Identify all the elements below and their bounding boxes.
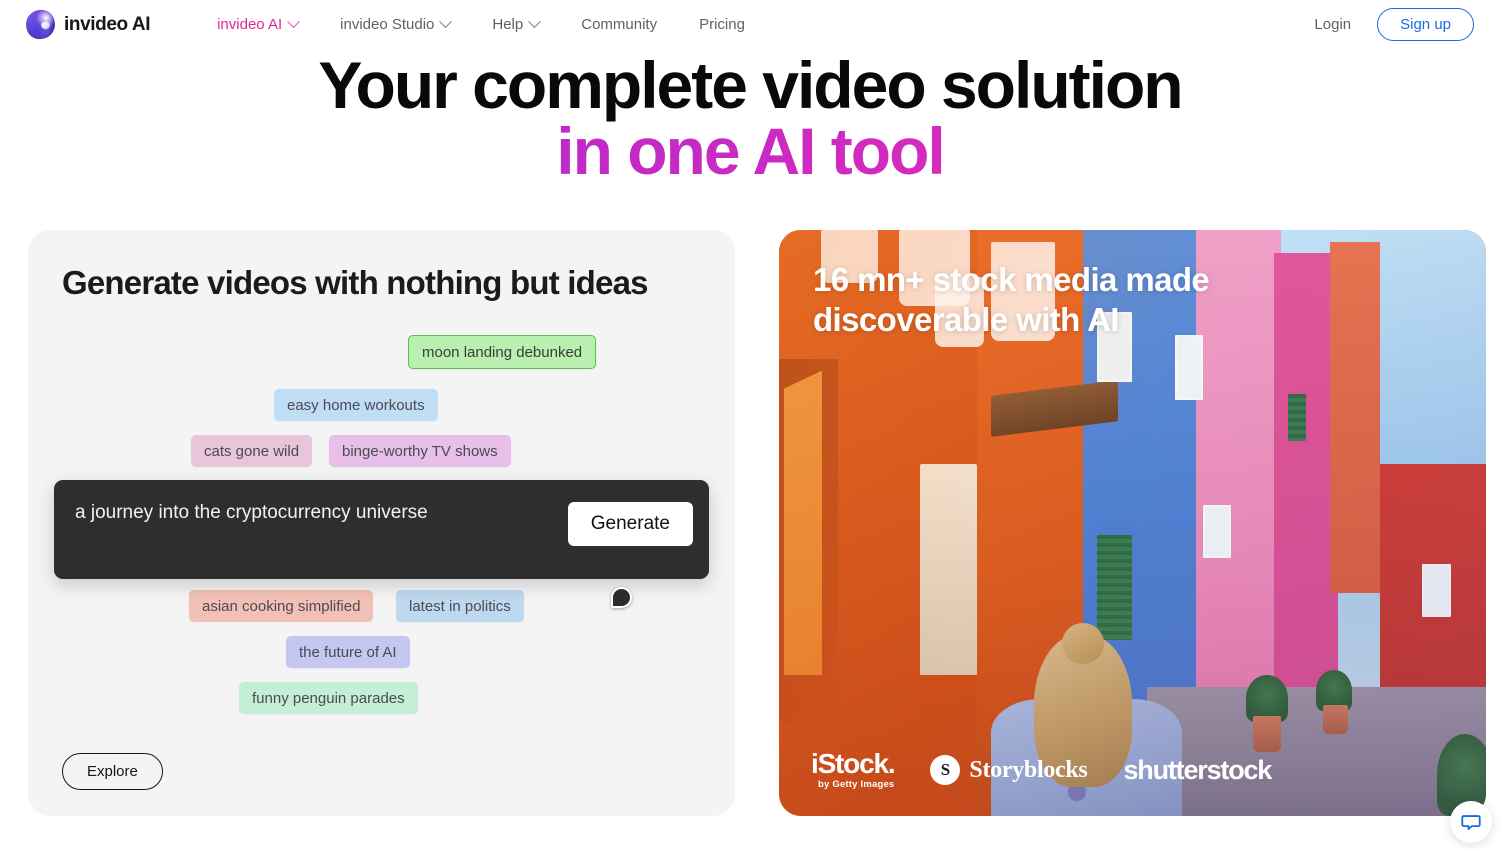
idea-chip[interactable]: the future of AI xyxy=(286,636,410,668)
green-shutter xyxy=(1097,535,1132,640)
flower-pot xyxy=(1253,716,1281,751)
green-shutter xyxy=(1288,394,1306,441)
nav-item-label: Pricing xyxy=(699,16,745,33)
nav-item-help[interactable]: Help xyxy=(471,10,560,39)
chat-bubble-icon xyxy=(1460,811,1482,833)
hero-line-1: Your complete video solution xyxy=(318,48,1181,122)
istock-logo-subtext: by Getty Images xyxy=(811,779,894,790)
feature-cards: Generate videos with nothing but ideas m… xyxy=(28,230,1486,816)
shop-door xyxy=(920,464,977,675)
brand-name: invideo AI xyxy=(64,14,150,36)
building-salmon xyxy=(1330,242,1379,594)
nav-item-pricing[interactable]: Pricing xyxy=(678,10,766,39)
istock-logo-text: iStock. xyxy=(811,750,894,778)
nav-item-invideo-ai[interactable]: invideo AI xyxy=(196,10,319,39)
window xyxy=(1175,335,1203,399)
chevron-down-icon xyxy=(528,15,541,28)
idea-chip[interactable]: easy home workouts xyxy=(274,389,438,421)
chat-widget-button[interactable] xyxy=(1450,801,1492,843)
stock-media-card: 16 mn+ stock media made discoverable wit… xyxy=(779,230,1486,816)
window xyxy=(1203,505,1231,558)
nav-item-label: Help xyxy=(492,16,523,33)
prompt-input-box[interactable]: a journey into the cryptocurrency univer… xyxy=(54,480,709,579)
nav-item-community[interactable]: Community xyxy=(560,10,678,39)
idea-chip[interactable]: cats gone wild xyxy=(191,435,312,467)
flower-pot xyxy=(1323,705,1348,734)
invideo-logo-icon xyxy=(24,8,57,41)
nav-item-label: Community xyxy=(581,16,657,33)
idea-chip[interactable]: asian cooking simplified xyxy=(189,590,373,622)
mouse-cursor-indicator xyxy=(611,587,632,608)
stock-provider-logos: iStock. by Getty Images S Storyblocks sh… xyxy=(811,750,1271,790)
nav-item-invideo-studio[interactable]: invideo Studio xyxy=(319,10,471,39)
potted-plant xyxy=(1246,675,1288,722)
generate-button[interactable]: Generate xyxy=(568,502,693,546)
storyblocks-logo-text: Storyblocks xyxy=(969,757,1087,784)
brand-logo[interactable]: invideo AI xyxy=(26,10,150,39)
right-card-title: 16 mn+ stock media made discoverable wit… xyxy=(813,260,1283,340)
person-hair-bun xyxy=(1062,623,1104,664)
istock-logo: iStock. by Getty Images xyxy=(811,750,894,790)
chevron-down-icon xyxy=(440,15,453,28)
storyblocks-mark-icon: S xyxy=(930,755,960,785)
login-link[interactable]: Login xyxy=(1314,16,1351,33)
idea-chip[interactable]: latest in politics xyxy=(396,590,524,622)
window xyxy=(1422,564,1450,617)
storyblocks-logo: S Storyblocks xyxy=(930,755,1087,785)
idea-chip[interactable]: funny penguin parades xyxy=(239,682,418,714)
chevron-down-icon xyxy=(287,15,300,28)
shutterstock-logo: shutterstock xyxy=(1123,755,1271,786)
primary-nav: invideo AI invideo Studio Help Community… xyxy=(196,10,766,39)
prompt-input-value[interactable]: a journey into the cryptocurrency univer… xyxy=(75,502,428,524)
idea-chip[interactable]: binge-worthy TV shows xyxy=(329,435,511,467)
explore-button[interactable]: Explore xyxy=(62,753,163,790)
nav-item-label: invideo AI xyxy=(217,16,282,33)
idea-chip[interactable]: moon landing debunked xyxy=(408,335,596,369)
nav-item-label: invideo Studio xyxy=(340,16,434,33)
hero-line-2: in one AI tool xyxy=(0,118,1500,184)
page-title: Your complete video solution in one AI t… xyxy=(0,52,1500,184)
signup-button[interactable]: Sign up xyxy=(1377,8,1474,41)
sunlit-wall-patch xyxy=(784,371,822,676)
nav-actions: Login Sign up xyxy=(1314,8,1474,41)
top-navbar: invideo AI invideo AI invideo Studio Hel… xyxy=(0,0,1500,49)
generate-videos-card: Generate videos with nothing but ideas m… xyxy=(28,230,735,816)
hero-section: Your complete video solution in one AI t… xyxy=(0,52,1500,184)
